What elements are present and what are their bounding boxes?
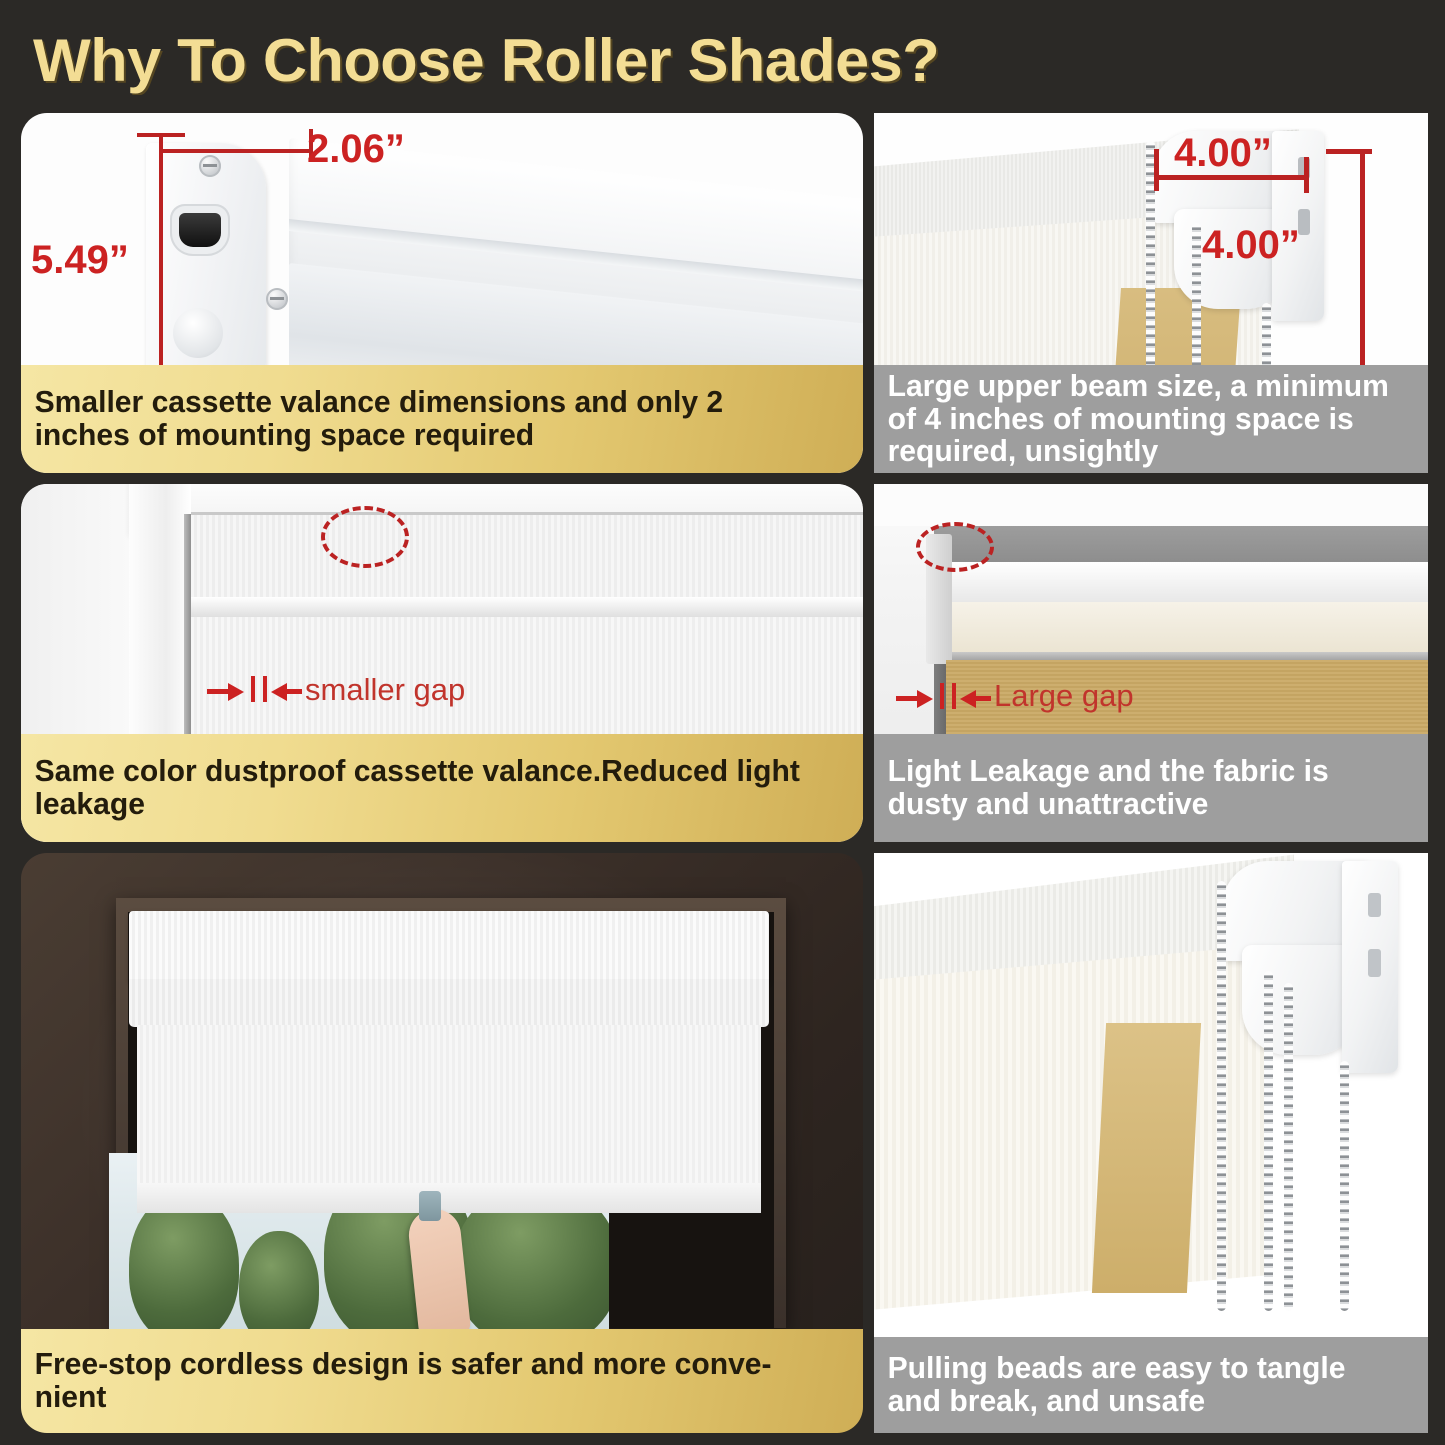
- height-dimension-tick-top: [1326, 149, 1372, 154]
- gap-arrow-right-icon: [228, 683, 244, 701]
- caption-bar-bottom-right: Pulling beads are easy to tangle and bre…: [874, 1337, 1428, 1433]
- valance-middle-rail: [191, 597, 863, 619]
- panel-bottom-left-frame: Free-stop cordless design is safer and m…: [21, 853, 863, 1433]
- gap-marker-bar: [263, 676, 267, 702]
- shade-fabric-tan: [1092, 1023, 1201, 1293]
- highlight-ellipse-icon: [321, 506, 409, 568]
- comparison-grid: 2.06” 5.49” Smaller cassette valance dim…: [0, 108, 1445, 1445]
- gap-marker-bar: [251, 676, 255, 702]
- caption-bar-top-right: Large upper beam size, a minimum of 4 in…: [874, 365, 1428, 473]
- gap-marker-bar: [940, 683, 944, 709]
- tree: [239, 1231, 319, 1333]
- endcap-knob: [173, 308, 223, 358]
- panel-top-right-frame: 4.00” 4.00” Large upper beam size, a min…: [874, 113, 1428, 473]
- header: Why To Choose Roller Shades?: [0, 0, 1445, 110]
- highlight-ellipse-icon: [916, 522, 994, 572]
- gap-arrow-shaft: [286, 689, 302, 694]
- gap-arrow-shaft: [975, 696, 991, 701]
- caption-bar-middle-left: Same color dustproof cassette valance.Re…: [21, 734, 863, 842]
- gap-line: [184, 514, 191, 749]
- bead-chain: [1217, 881, 1226, 1311]
- cassette-valance: [191, 512, 863, 602]
- width-dimension-label: 2.06”: [307, 127, 405, 172]
- screw-icon: [266, 288, 288, 310]
- cassette-valance-head: [129, 911, 769, 983]
- shade-fabric: [137, 1025, 761, 1203]
- infographic-page: Why To Choose Roller Shades?: [0, 0, 1445, 1445]
- bead-chain: [1284, 983, 1293, 1311]
- gap-arrow-shaft: [207, 689, 229, 694]
- caption-text: Pulling beads are easy to tangle and bre…: [874, 1352, 1411, 1418]
- gap-arrow-left-icon: [271, 683, 287, 701]
- shade-fabric-white: [874, 946, 1264, 1311]
- tree: [129, 1193, 239, 1333]
- height-dimension-label: 5.49”: [31, 238, 129, 283]
- page-title: Why To Choose Roller Shades?: [33, 26, 939, 95]
- caption-text: Light Leakage and the fabric is dusty an…: [874, 755, 1411, 821]
- width-dimension-tick-right: [1304, 157, 1309, 193]
- valance-cream: [934, 602, 1428, 654]
- panel-middle-left: smaller gap Same color dustproof cassett…: [21, 484, 863, 842]
- width-dimension-label: 4.00”: [1174, 131, 1272, 176]
- panel-top-left-frame: 2.06” 5.49” Smaller cassette valance dim…: [21, 113, 863, 473]
- cassette-valance-lower: [129, 979, 769, 1027]
- gap-arrow-left-icon: [960, 690, 976, 708]
- caption-bar-middle-right: Light Leakage and the fabric is dusty an…: [874, 734, 1428, 842]
- bead-chain: [1340, 1061, 1349, 1311]
- bead-chain: [1264, 971, 1273, 1311]
- bottom-rail-grip: [419, 1191, 441, 1221]
- width-dimension-line: [161, 149, 313, 153]
- height-dimension-line: [1360, 151, 1365, 401]
- panel-bottom-right: Pulling beads are easy to tangle and bre…: [874, 853, 1428, 1433]
- caption-text: Smaller cassette valance dimensions and …: [21, 386, 838, 452]
- shade-fabric: [191, 617, 863, 747]
- caption-text: Same color dustproof cassette valance.Re…: [21, 755, 838, 821]
- gap-arrow-shaft: [896, 696, 918, 701]
- panel-bottom-left: Free-stop cordless design is safer and m…: [21, 853, 863, 1433]
- caption-bar-top-left: Smaller cassette valance dimensions and …: [21, 365, 863, 473]
- bracket-slot: [1368, 949, 1381, 977]
- panel-middle-right: Large gap Light Leakage and the fabric i…: [874, 484, 1428, 842]
- panel-middle-right-frame: Large gap Light Leakage and the fabric i…: [874, 484, 1428, 842]
- gap-marker-bar: [952, 683, 956, 709]
- wall-top: [874, 484, 1428, 526]
- caption-bar-bottom-left: Free-stop cordless design is safer and m…: [21, 1329, 863, 1433]
- bracket-slot: [1368, 893, 1381, 917]
- gap-label: Large gap: [994, 678, 1134, 714]
- caption-text: Large upper beam size, a minimum of 4 in…: [874, 370, 1411, 469]
- height-dimension-label: 4.00”: [1202, 223, 1300, 268]
- panel-middle-left-frame: smaller gap Same color dustproof cassett…: [21, 484, 863, 842]
- screw-icon: [199, 155, 221, 177]
- height-dimension-tick-top: [137, 133, 185, 137]
- panel-top-left: 2.06” 5.49” Smaller cassette valance dim…: [21, 113, 863, 473]
- endcap-slot: [179, 213, 221, 247]
- caption-text: Free-stop cordless design is safer and m…: [21, 1348, 838, 1414]
- panel-bottom-right-frame: Pulling beads are easy to tangle and bre…: [874, 853, 1428, 1433]
- panel-top-right: 4.00” 4.00” Large upper beam size, a min…: [874, 113, 1428, 473]
- gap-label: smaller gap: [305, 672, 465, 708]
- gap-arrow-right-icon: [917, 690, 933, 708]
- window-frame-side: [129, 484, 191, 764]
- width-dimension-tick-left: [1154, 149, 1159, 191]
- shade-bottom-rail: [137, 1183, 761, 1213]
- roller-tube: [934, 562, 1428, 606]
- roller-tube-shadow: [934, 526, 1428, 566]
